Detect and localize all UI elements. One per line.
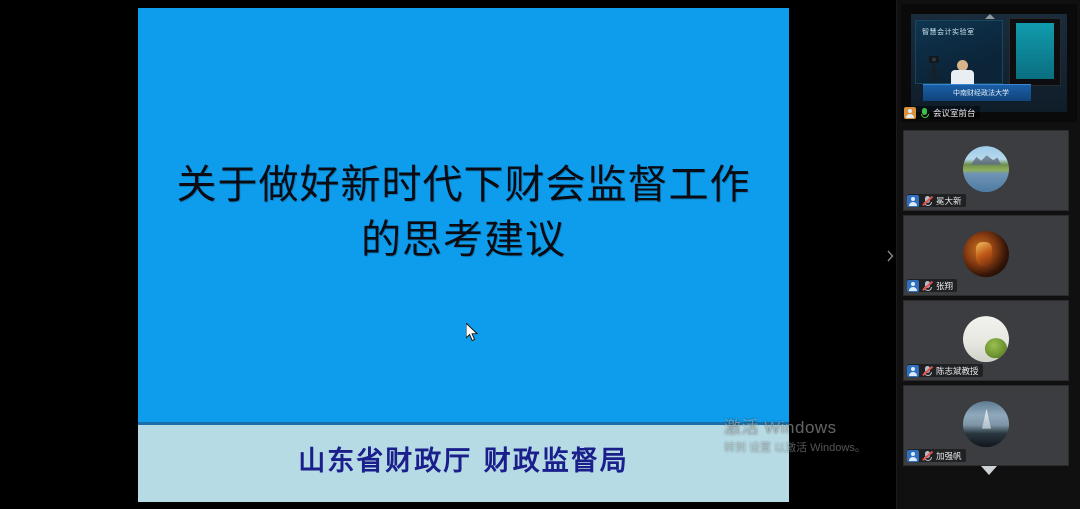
room-side-display	[1009, 18, 1061, 86]
participant-nameplate: 陈志斌教授	[907, 364, 983, 377]
participant-person-icon	[907, 195, 919, 207]
room-camera-video: 智慧会计实验室 中南财经政法大学	[911, 14, 1067, 112]
participant-person-icon	[907, 365, 919, 377]
participant-nameplate: 加强帆	[907, 449, 966, 462]
room-side-display-content	[1016, 23, 1054, 79]
room-ceiling-marker-icon	[985, 14, 995, 19]
participant-person-icon	[907, 280, 919, 292]
room-screen-text: 智慧会计实验室	[922, 27, 975, 37]
participant-nameplate: 张翔	[907, 279, 957, 292]
participant-tile-4[interactable]: 加强帆	[903, 385, 1069, 466]
sidebar-collapse-button[interactable]	[884, 243, 896, 269]
participant-name: 张翔	[936, 280, 953, 292]
room-podium-text: 中南财经政法大学	[953, 88, 1009, 98]
participant-tile-2[interactable]: 张翔	[903, 215, 1069, 296]
presentation-slide[interactable]: 关于做好新时代下财会监督工作 的思考建议 山东省财政厅 财政监督局	[138, 8, 789, 502]
slide-footer-text: 山东省财政厅 财政监督局	[138, 439, 789, 478]
room-podium: 中南财经政法大学	[923, 84, 1031, 101]
slide-footer-band: 山东省财政厅 财政监督局	[138, 422, 789, 502]
participant-tile-1[interactable]: 冕大新	[903, 130, 1069, 211]
participant-name: 加强帆	[936, 450, 962, 462]
boat-avatar	[963, 401, 1009, 447]
participant-name: 冕大新	[936, 195, 962, 207]
microphone-muted-icon	[922, 365, 933, 377]
chevron-right-icon	[886, 250, 894, 262]
presenter-body	[951, 70, 974, 84]
microphone-muted-icon	[922, 450, 933, 462]
landscape-avatar	[963, 146, 1009, 192]
meeting-app-window: 关于做好新时代下财会监督工作 的思考建议 山东省财政厅 财政监督局 激活 Win…	[0, 0, 1080, 509]
microphone-on-icon	[919, 107, 930, 119]
participant-nameplate: 会议室前台	[904, 106, 980, 119]
tree-avatar	[963, 316, 1009, 362]
participant-tile-room-camera[interactable]: 智慧会计实验室 中南财经政法大学	[901, 4, 1077, 122]
shared-screen-stage[interactable]: 关于做好新时代下财会监督工作 的思考建议 山东省财政厅 财政监督局 激活 Win…	[0, 0, 896, 509]
camera-tripod-icon	[927, 56, 941, 84]
ironman-avatar	[963, 231, 1009, 277]
microphone-muted-icon	[922, 280, 933, 292]
microphone-muted-icon	[922, 195, 933, 207]
participant-name: 会议室前台	[933, 107, 976, 119]
participant-name: 陈志斌教授	[936, 365, 979, 377]
participant-video-sidebar[interactable]: 智慧会计实验室 中南财经政法大学	[896, 0, 1080, 509]
participant-nameplate: 冕大新	[907, 194, 966, 207]
sidebar-scroll-down-button[interactable]	[981, 466, 997, 475]
participant-tile-3[interactable]: 陈志斌教授	[903, 300, 1069, 381]
participant-person-icon	[907, 450, 919, 462]
participant-person-icon	[904, 107, 916, 119]
slide-title: 关于做好新时代下财会监督工作 的思考建议	[150, 158, 777, 268]
